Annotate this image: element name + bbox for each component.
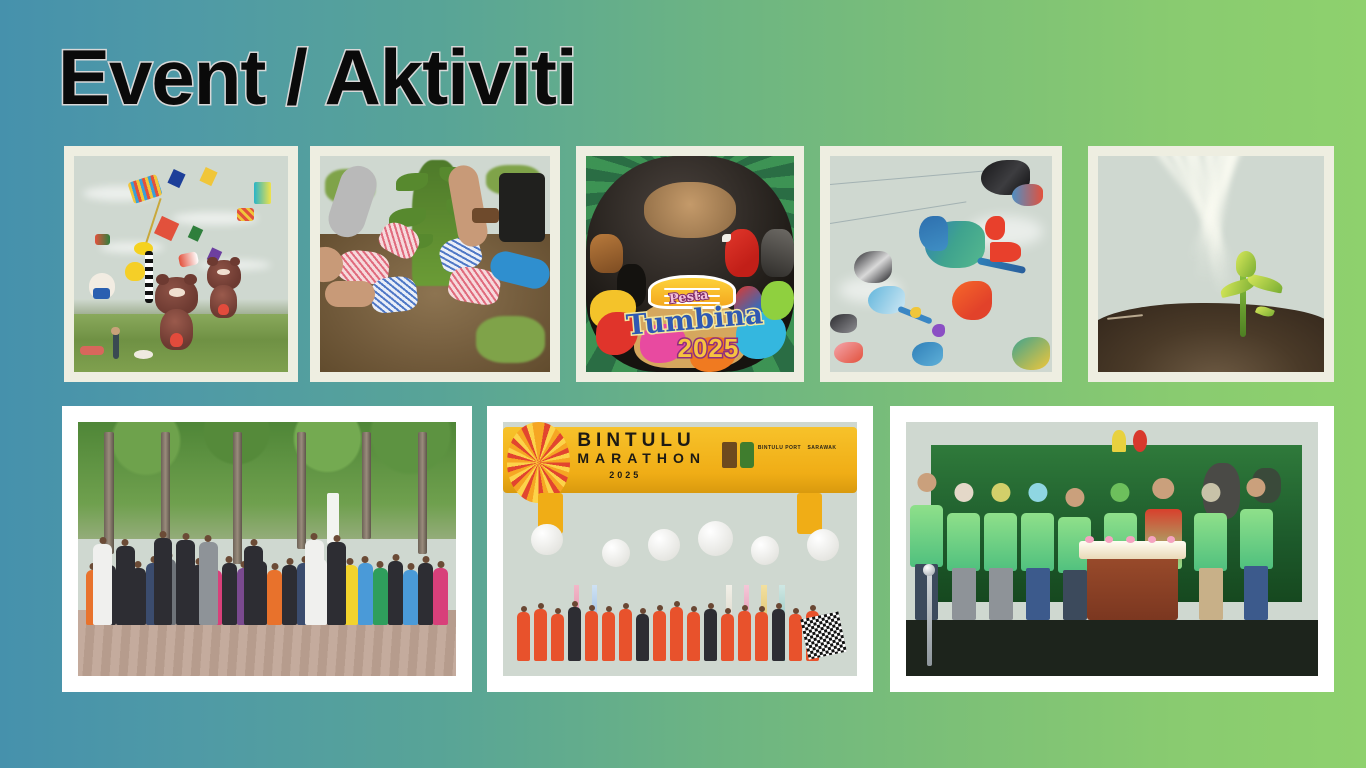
photo-frame-kite-festival-field[interactable]: [64, 146, 298, 382]
deer-graphic: [590, 234, 623, 273]
photo-bintulu-marathon-start: BINTULU MARATHON 2025 BINTULU PORT SARAW…: [503, 422, 857, 676]
dinosaur-kite-icon: [952, 281, 992, 320]
agency-logo-icon: [1133, 430, 1147, 453]
photo-frame-bintulu-marathon-start[interactable]: BINTULU MARATHON 2025 BINTULU PORT SARAW…: [487, 406, 873, 692]
checkered-flag-icon: [800, 611, 847, 659]
photo-frame-creature-kites-sky[interactable]: [820, 146, 1062, 382]
photo-frame-cake-cutting-ceremony[interactable]: [890, 406, 1334, 692]
photo-kite-festival-field: [74, 156, 288, 372]
runner-group: [510, 574, 850, 660]
photo-pesta-tumbina-poster: Pesta Tumbina 2025: [586, 156, 794, 372]
stanchion-post: [927, 574, 932, 665]
sponsor-bintulu-port: BINTULU PORT: [758, 445, 801, 451]
photo-frame-seedling-sunlight[interactable]: [1088, 146, 1334, 382]
banner-text-marathon: MARATHON: [577, 450, 706, 466]
slide-canvas: Event / Aktiviti: [0, 0, 1366, 768]
photo-seedling-sunlight: [1098, 156, 1324, 372]
council-crest-icon: [740, 442, 754, 467]
crest-icon: [1112, 430, 1126, 453]
character-kite-icon: [207, 260, 241, 318]
scarlet-macaw-graphic: [725, 229, 758, 277]
photo-tree-planting-gloves: [320, 156, 550, 372]
photo-frame-group-park-gathering[interactable]: [62, 406, 472, 692]
crowd-group: [78, 519, 456, 626]
banner-text-year: 2025: [609, 470, 641, 480]
photo-creature-kites-sky: [830, 156, 1052, 372]
photo-frame-pesta-tumbina-poster[interactable]: Pesta Tumbina 2025: [576, 146, 804, 382]
sponsor-sarawak: SARAWAK: [807, 445, 836, 451]
character-kite-icon: [155, 277, 198, 350]
page-title: Event / Aktiviti: [58, 38, 577, 116]
banner-text-bintulu: BINTULU: [577, 430, 695, 452]
poster-text-year: 2025: [678, 333, 740, 364]
photo-group-park-gathering: [78, 422, 456, 676]
state-crest-icon: [722, 442, 736, 467]
photo-cake-cutting-ceremony: [906, 422, 1318, 676]
ceremonial-cake: [1079, 541, 1186, 559]
photo-frame-tree-planting-gloves[interactable]: [310, 146, 560, 382]
ceremony-table: [1087, 554, 1178, 620]
sunburst-logo-icon: [507, 422, 571, 503]
garden-glove-icon: [369, 275, 418, 314]
antelope-graphic: [761, 229, 794, 277]
